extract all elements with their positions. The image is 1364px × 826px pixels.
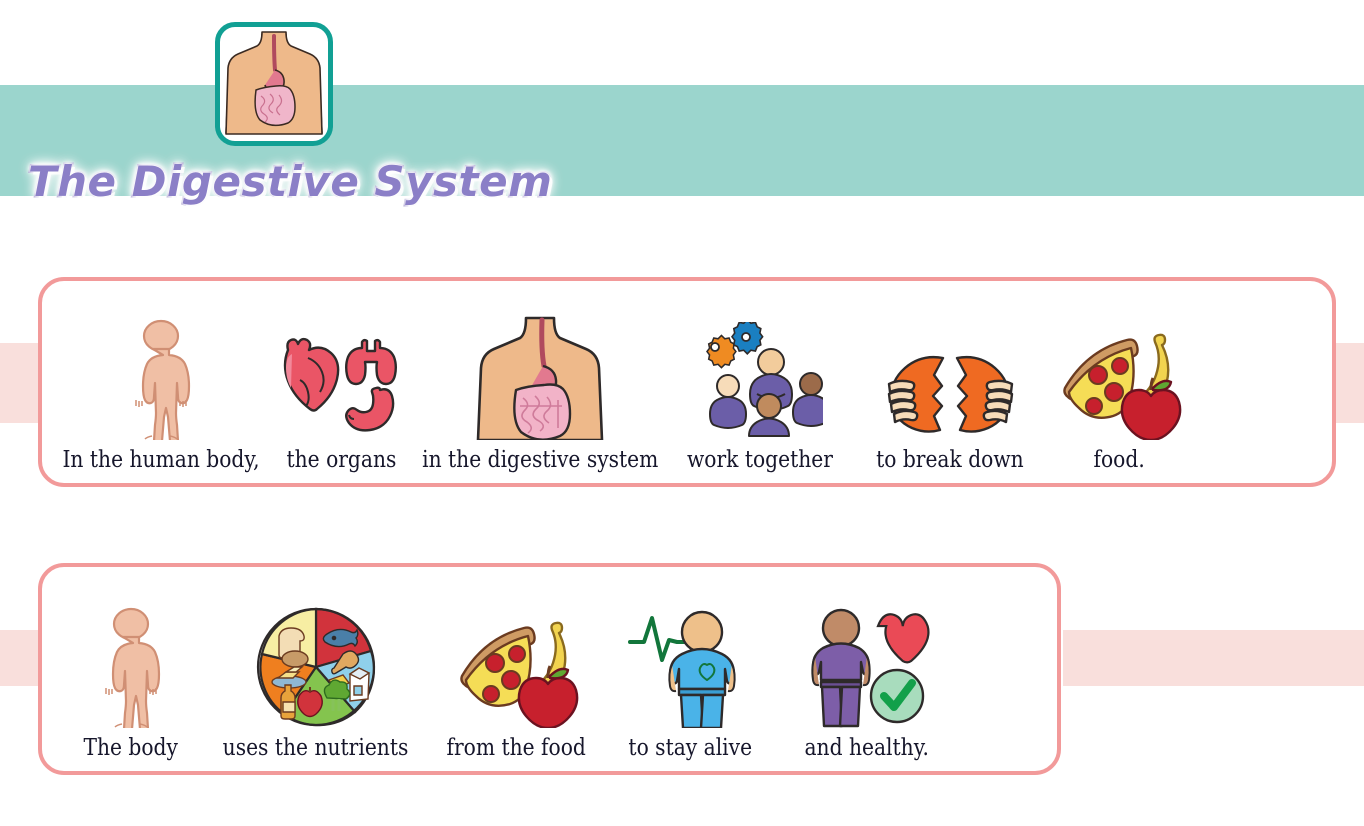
- chunk-in-the-human-body[interactable]: In the human body,: [56, 315, 266, 473]
- nutrients-pie-icon: [206, 603, 426, 728]
- human-body-icon: [56, 315, 266, 440]
- chunk-label: the organs: [286, 448, 396, 473]
- chunk-to-break-down[interactable]: to break down: [856, 315, 1044, 473]
- chunk-label: food.: [1093, 448, 1144, 473]
- food-icon: [1044, 315, 1194, 440]
- chunk-label: to break down: [876, 448, 1024, 473]
- chunk-label: In the human body,: [62, 448, 259, 473]
- chunk-to-stay-alive[interactable]: to stay alive: [606, 603, 774, 761]
- break-down-icon: [856, 315, 1044, 440]
- organs-icon: [266, 315, 416, 440]
- sentence-card-1: In the human body, the organs: [38, 277, 1336, 487]
- chunk-label: uses the nutrients: [223, 736, 409, 761]
- page-title: The Digestive System: [28, 157, 552, 206]
- chunk-food[interactable]: food.: [1044, 315, 1194, 473]
- chunk-label: from the food: [446, 736, 585, 761]
- worksheet-page: The Digestive System In the human body,: [0, 0, 1364, 826]
- chunk-label: and healthy.: [804, 736, 928, 761]
- human-body-icon: [56, 603, 206, 728]
- chunk-label: The body: [84, 736, 178, 761]
- sentence-card-2: The body: [38, 563, 1061, 775]
- food-icon: [426, 603, 606, 728]
- chunk-uses-the-nutrients[interactable]: uses the nutrients: [206, 603, 426, 761]
- chunk-from-the-food[interactable]: from the food: [426, 603, 606, 761]
- chunk-work-together[interactable]: work together: [664, 315, 856, 473]
- digestive-system-icon: [416, 315, 664, 440]
- chunk-label: in the digestive system: [422, 448, 658, 473]
- chunk-the-body[interactable]: The body: [56, 603, 206, 761]
- stay-alive-icon: [606, 603, 774, 728]
- header-digestive-system-icon: [215, 22, 333, 146]
- healthy-icon: [774, 603, 959, 728]
- chunk-label: work together: [687, 448, 833, 473]
- pink-accent-band-right-bottom: [1063, 630, 1364, 686]
- chunk-in-the-digestive-system[interactable]: in the digestive system: [416, 315, 664, 473]
- chunk-the-organs[interactable]: the organs: [266, 315, 416, 473]
- chunk-label: to stay alive: [628, 736, 752, 761]
- chunk-and-healthy[interactable]: and healthy.: [774, 603, 959, 761]
- work-together-icon: [664, 315, 856, 440]
